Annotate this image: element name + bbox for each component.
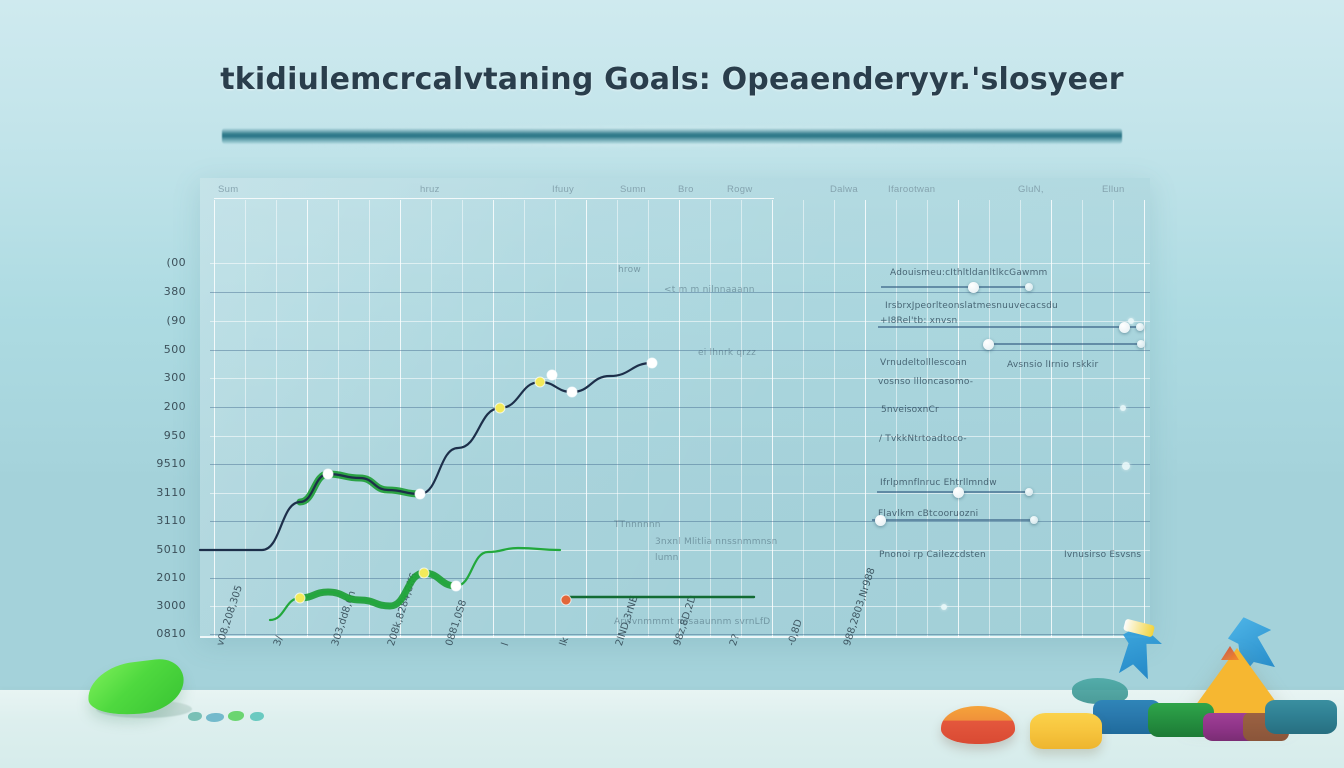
series-line bbox=[200, 363, 652, 550]
slider-end-knob[interactable] bbox=[1025, 283, 1033, 291]
faint-annotation: ei lhnrk qrzz bbox=[698, 348, 756, 358]
edge-dot-marker bbox=[1122, 462, 1130, 470]
y-axis-tick: 9510 bbox=[156, 457, 186, 470]
data-point-marker[interactable] bbox=[323, 469, 333, 479]
y-axis-tick: 2010 bbox=[156, 571, 186, 584]
y-axis-tick: 0810 bbox=[156, 627, 186, 640]
data-point-marker[interactable] bbox=[495, 403, 505, 413]
data-point-marker[interactable] bbox=[561, 595, 571, 605]
data-point-marker[interactable] bbox=[535, 377, 545, 387]
y-axis-tick: 3000 bbox=[156, 599, 186, 612]
annotation-label: Adouismeu:cIthltldanltlkcGawmm bbox=[890, 268, 1048, 278]
edge-dot-marker bbox=[941, 604, 947, 610]
faint-annotation: TTnnnnnn bbox=[614, 520, 661, 530]
annotation-label: 5nveisoxnCr bbox=[881, 405, 939, 415]
data-point-marker[interactable] bbox=[567, 387, 577, 397]
y-axis-tick: 380 bbox=[164, 285, 186, 298]
slider-track[interactable] bbox=[881, 286, 1029, 288]
y-axis-tick: 500 bbox=[164, 343, 186, 356]
faint-annotation: <t m m nilnnaaann bbox=[664, 285, 755, 295]
annotation-label: +I8Rel'tb: xnvsn bbox=[880, 316, 957, 326]
annotation-label: IrsbrxJpeorlteonslatmesnuuvecacsdu bbox=[885, 301, 1058, 311]
slider-end-knob[interactable] bbox=[1137, 340, 1145, 348]
y-axis-tick: 950 bbox=[164, 429, 186, 442]
slider-knob[interactable] bbox=[983, 339, 994, 350]
y-axis-tick: 3110 bbox=[156, 514, 186, 527]
slider-knob[interactable] bbox=[953, 487, 964, 498]
data-point-marker[interactable] bbox=[451, 581, 461, 591]
faint-annotation: Arwvnmmmt nosaaunnm svrnLfD bbox=[614, 617, 770, 627]
marker-group bbox=[295, 358, 657, 605]
y-axis-tick: (90 bbox=[167, 314, 187, 327]
slider-end-knob[interactable] bbox=[1136, 323, 1144, 331]
chart-plot-area bbox=[200, 178, 1150, 648]
annotation-label: Avsnsio lIrnio rskkir bbox=[1007, 360, 1098, 370]
annotation-label: Pnonoi rp Cailezcdsten bbox=[879, 550, 986, 560]
page-title: tkidiulemcrcalvtaning Goals: Opeaenderyy… bbox=[220, 62, 1124, 97]
slider-end-knob[interactable] bbox=[1025, 488, 1033, 496]
prop-cylinder-teal bbox=[1265, 700, 1337, 734]
data-point-marker[interactable] bbox=[419, 568, 429, 578]
slider-track[interactable] bbox=[878, 326, 1140, 328]
series-line bbox=[270, 548, 560, 620]
faint-annotation: hrow bbox=[618, 265, 641, 275]
y-axis-tick: 300 bbox=[164, 371, 186, 384]
slider-knob[interactable] bbox=[968, 282, 979, 293]
data-point-marker[interactable] bbox=[295, 593, 305, 603]
annotation-label: / TvkkNtrtoadtoco- bbox=[879, 434, 967, 444]
prop-pie-slice-red bbox=[941, 706, 1015, 744]
annotation-label: Ivnusirso Esvsns bbox=[1064, 550, 1141, 560]
edge-dot-marker bbox=[1128, 318, 1134, 324]
annotation-label: vosnso llloncasomo- bbox=[878, 377, 973, 387]
series-group bbox=[200, 363, 754, 620]
y-axis-tick: 200 bbox=[164, 400, 186, 413]
y-axis-tick: 3110 bbox=[156, 486, 186, 499]
annotation-label: Ifrlpmnflnruc Ehtrllmndw bbox=[880, 478, 997, 488]
faint-annotation: 3nxnl Mlitlia nnssnmmnsn bbox=[655, 537, 777, 547]
title-container: tkidiulemcrcalvtaning Goals: Opeaenderyy… bbox=[0, 62, 1344, 97]
slider-end-knob[interactable] bbox=[1030, 516, 1038, 524]
y-axis-tick: (00 bbox=[167, 256, 187, 269]
prop-pie-slice-yellow bbox=[1030, 713, 1102, 749]
annotation-label: Flavlkm cBtcooruozni bbox=[878, 509, 978, 519]
data-point-marker[interactable] bbox=[415, 489, 425, 499]
y-axis-tick: 5010 bbox=[156, 543, 186, 556]
annotation-label: Vrnudeltolllescoan bbox=[880, 358, 967, 368]
edge-dot-marker bbox=[1120, 405, 1126, 411]
data-point-marker[interactable] bbox=[547, 370, 557, 380]
faint-annotation: lumn bbox=[655, 553, 678, 563]
data-point-marker[interactable] bbox=[647, 358, 657, 368]
slider-track[interactable] bbox=[872, 519, 1034, 521]
title-underline-shelf bbox=[222, 128, 1122, 144]
slider-track[interactable] bbox=[983, 343, 1141, 345]
series-highlight bbox=[300, 573, 456, 606]
